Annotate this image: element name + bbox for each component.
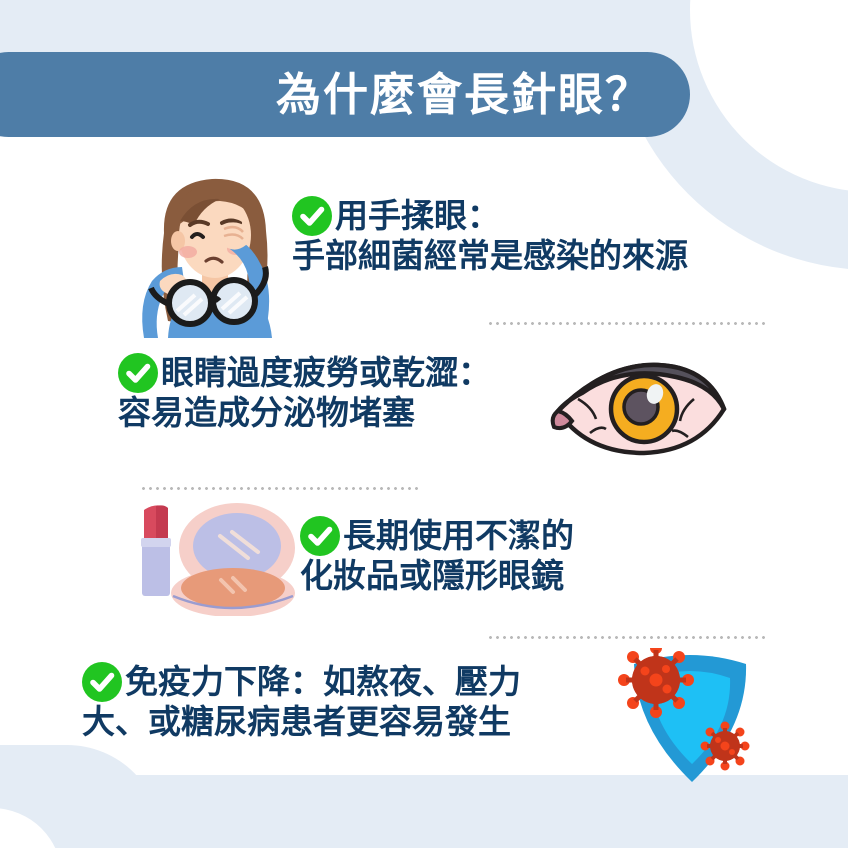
reason-2-text: 眼睛過度疲勞或乾澀： 容易造成分泌物堵塞: [118, 353, 491, 434]
reason-2-line1: 眼睛過度疲勞或乾澀：: [161, 353, 491, 393]
green-check-icon: [292, 196, 332, 236]
woman-rubbing-eye-illustration: [124, 163, 304, 338]
green-check-icon: [82, 662, 122, 702]
divider-3: [487, 636, 767, 639]
divider-2: [140, 487, 418, 490]
reason-3-line1: 長期使用不潔的: [343, 516, 574, 556]
page-title-bar: 為什麼會長針眼？: [0, 52, 690, 137]
green-check-icon: [118, 353, 158, 393]
cosmetics-lipstick-powder-illustration: [120, 496, 305, 616]
infographic-canvas: 為什麼會長針眼？: [0, 0, 848, 848]
reason-1-line2: 手部細菌經常是感染的來源: [292, 236, 688, 276]
reason-4-line2: 大、或糖尿病患者更容易發生: [82, 702, 521, 742]
reason-1-line1: 用手揉眼：: [335, 196, 500, 236]
reason-4-line1: 免疫力下降：如熬夜、壓力: [125, 662, 521, 702]
reason-2-line2: 容易造成分泌物堵塞: [118, 393, 491, 433]
green-check-icon: [300, 516, 340, 556]
irritated-eye-illustration: [548, 355, 733, 460]
reason-3-text: 長期使用不潔的 化妝品或隱形眼鏡: [300, 516, 574, 597]
reason-4-text: 免疫力下降：如熬夜、壓力 大、或糖尿病患者更容易發生: [82, 662, 521, 743]
shield-with-virus-illustration: [612, 648, 772, 788]
divider-1: [487, 322, 767, 325]
reason-1-text: 用手揉眼： 手部細菌經常是感染的來源: [292, 196, 688, 277]
page-title: 為什麼會長針眼？: [276, 72, 652, 117]
reason-3-line2: 化妝品或隱形眼鏡: [300, 556, 574, 596]
